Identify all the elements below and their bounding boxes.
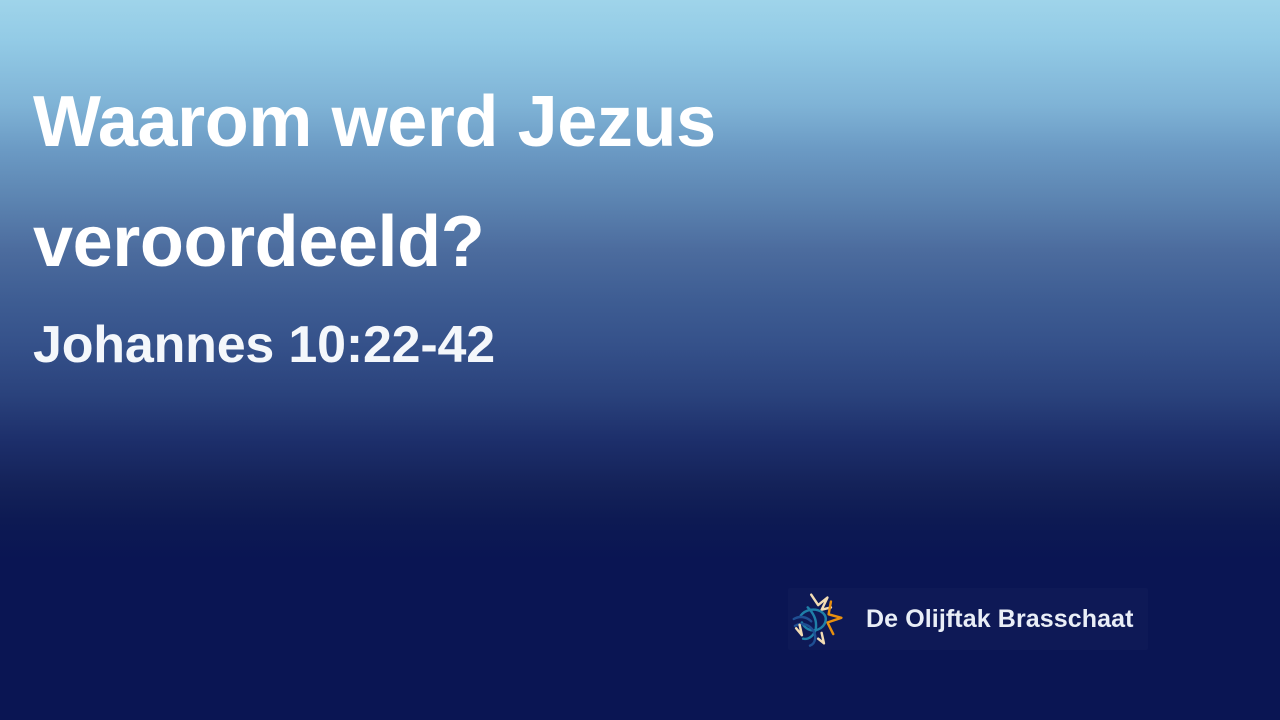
organization-name: De Olijftak Brasschaat (866, 607, 1134, 632)
dove-star-logo-icon (788, 590, 846, 648)
presentation-slide: Waarom werd Jezus veroordeeld? Johannes … (0, 0, 1280, 720)
slide-text-block: Waarom werd Jezus veroordeeld? Johannes … (33, 62, 1133, 378)
page-title: Waarom werd Jezus veroordeeld? (33, 62, 1133, 302)
brand-logo-lockup: De Olijftak Brasschaat (788, 588, 1148, 650)
slide-subtitle: Johannes 10:22-42 (33, 312, 1133, 378)
title-line-1: Waarom werd Jezus (33, 62, 1133, 182)
title-line-2: veroordeeld? (33, 182, 1133, 302)
